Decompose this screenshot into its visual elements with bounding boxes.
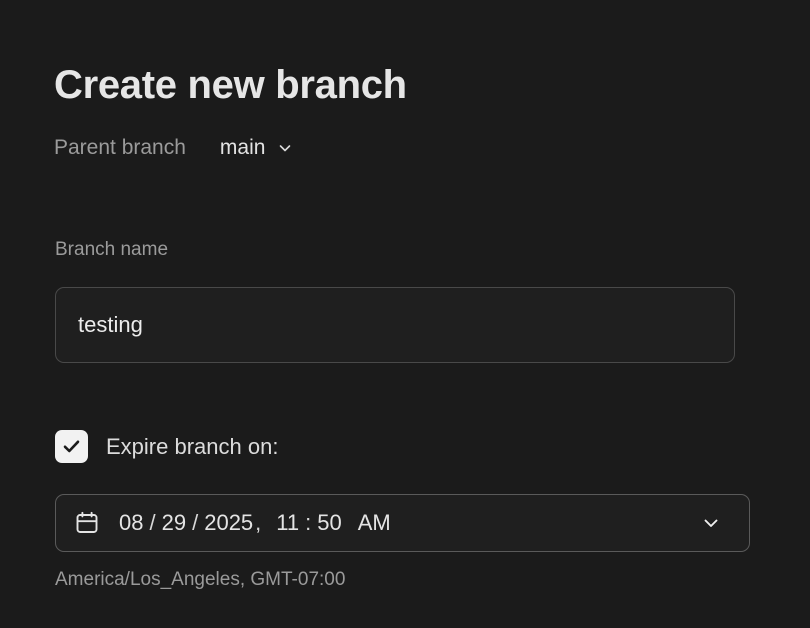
timezone-label: America/Los_Angeles, GMT-07:00 <box>55 570 345 589</box>
create-branch-dialog: Create new branch Parent branch main Bra… <box>0 0 810 628</box>
datetime-day-segment[interactable]: 29 <box>161 512 187 534</box>
calendar-icon <box>74 510 100 536</box>
datetime-minute-segment[interactable]: 50 <box>316 512 342 534</box>
parent-branch-selector[interactable]: main <box>220 137 294 158</box>
datetime-year-segment[interactable]: 2025 <box>203 512 254 534</box>
parent-branch-label: Parent branch <box>54 137 186 158</box>
datetime-time-separator: : <box>300 512 316 534</box>
parent-branch-value: main <box>220 137 266 158</box>
branch-name-input[interactable] <box>55 287 735 363</box>
datetime-meridiem-segment[interactable]: AM <box>357 512 392 534</box>
chevron-down-icon[interactable] <box>701 513 721 533</box>
datetime-date-separator-1: / <box>144 512 160 534</box>
expire-branch-row: Expire branch on: <box>55 430 278 463</box>
datetime-month-segment[interactable]: 08 <box>118 512 144 534</box>
expire-branch-checkbox[interactable] <box>55 430 88 463</box>
datetime-date-separator-2: / <box>187 512 203 534</box>
expiry-datetime-field[interactable]: 08 / 29 / 2025 , 11 : 50 AM <box>55 494 750 552</box>
page-title: Create new branch <box>54 61 407 109</box>
branch-name-label: Branch name <box>55 240 168 259</box>
expire-branch-label: Expire branch on: <box>106 436 278 458</box>
chevron-down-icon <box>277 140 293 156</box>
datetime-hour-segment[interactable]: 11 <box>275 512 300 534</box>
check-icon <box>61 436 82 457</box>
datetime-segments: 08 / 29 / 2025 , 11 : 50 AM <box>118 512 701 534</box>
parent-branch-row: Parent branch main <box>54 137 293 158</box>
datetime-comma-separator: , <box>254 512 263 534</box>
